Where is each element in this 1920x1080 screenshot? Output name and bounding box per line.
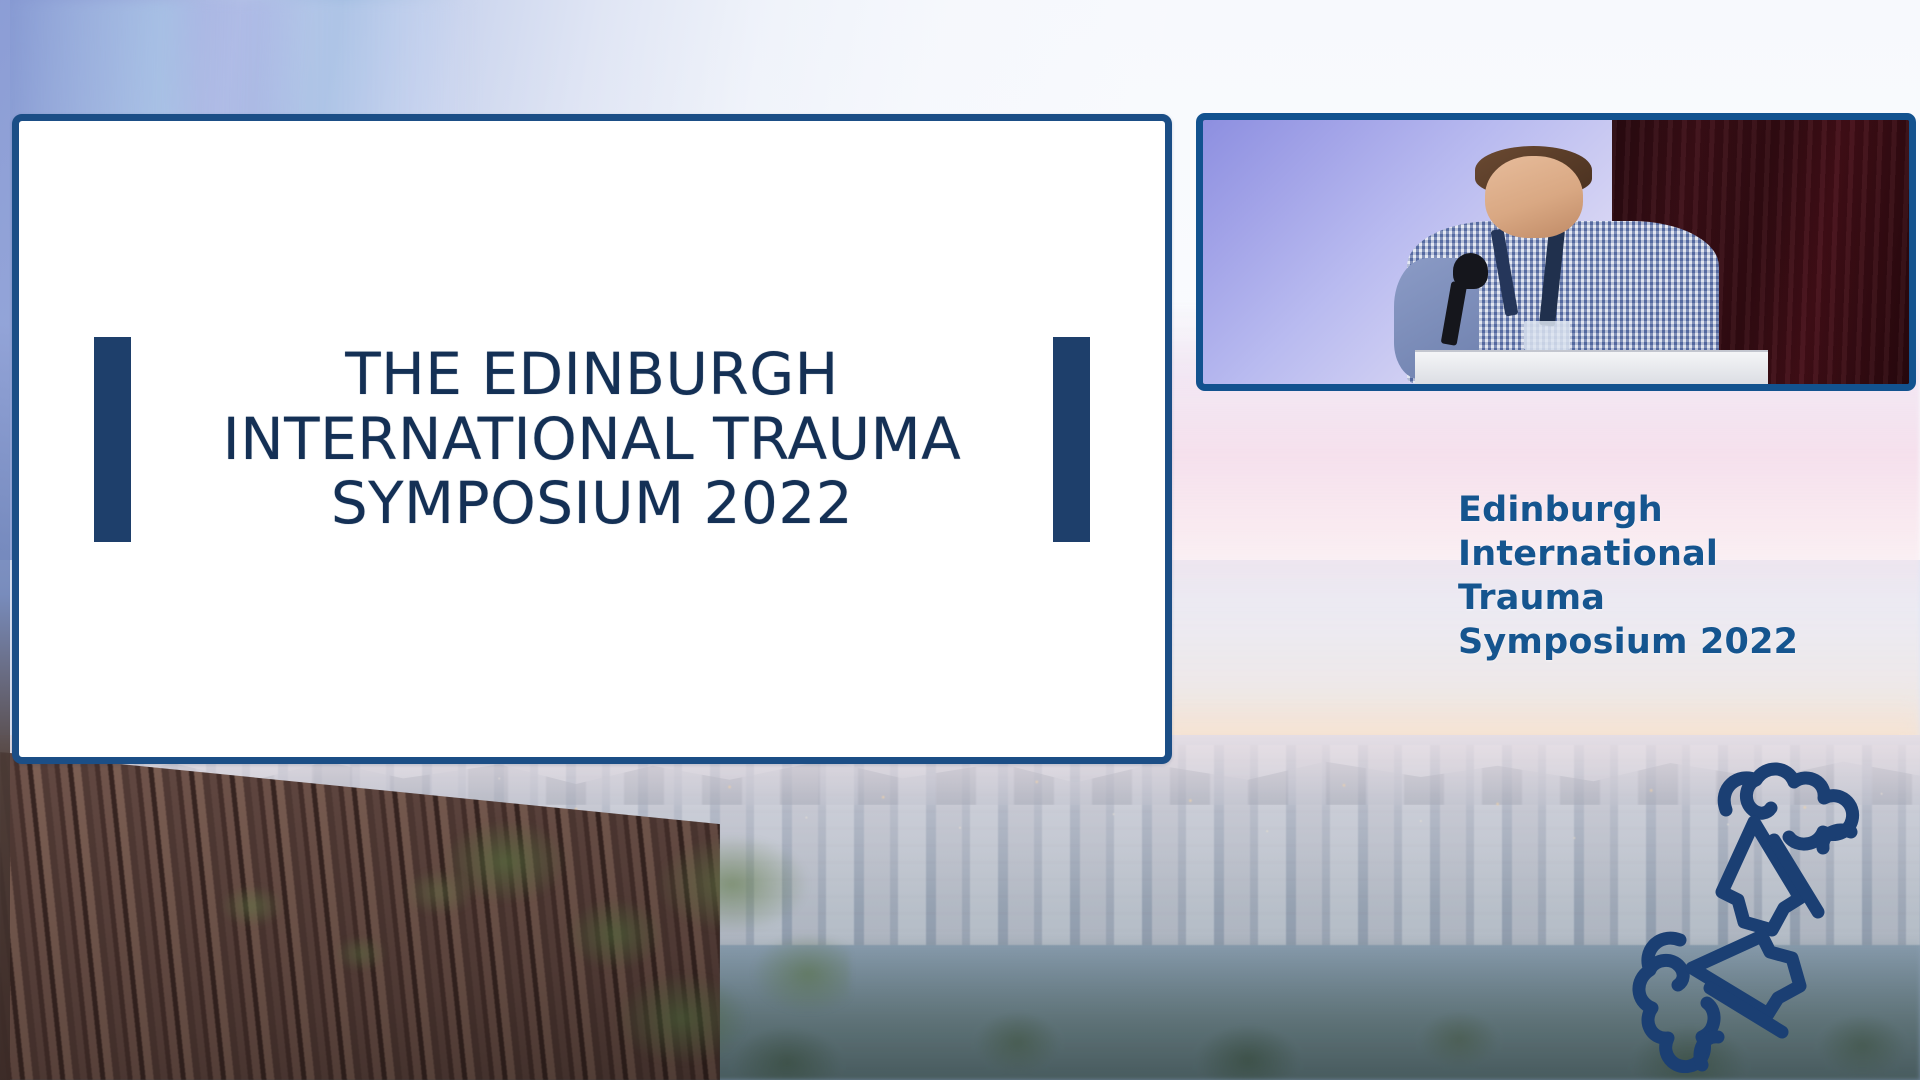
crossed-bones-logo [1588, 718, 1918, 1073]
speaker-head [1485, 156, 1582, 239]
slide-accent-bar-right [1053, 337, 1090, 542]
presentation-slide[interactable]: THE EDINBURGH INTERNATIONAL TRAUMA SYMPO… [12, 114, 1172, 764]
brand-line-4: Symposium 2022 [1458, 620, 1898, 664]
microphone-icon [1453, 253, 1489, 289]
speaker-badge [1524, 321, 1569, 350]
speaker-figure [1401, 141, 1726, 384]
slide-title-line-3: SYMPOSIUM 2022 [223, 471, 962, 536]
crag-vegetation [430, 800, 850, 1080]
podium [1415, 350, 1768, 384]
brand-line-3: Trauma [1458, 576, 1898, 620]
slide-title: THE EDINBURGH INTERNATIONAL TRAUMA SYMPO… [223, 342, 962, 537]
crossed-bones-icon [1588, 718, 1918, 1073]
slide-accent-bar-left [94, 337, 131, 542]
crag-scrub [150, 855, 490, 1025]
slide-content: THE EDINBURGH INTERNATIONAL TRAUMA SYMPO… [19, 337, 1165, 542]
brand-title: Edinburgh International Trauma Symposium… [1458, 488, 1898, 664]
slide-title-line-2: INTERNATIONAL TRAUMA [223, 407, 962, 472]
left-edge-strip [0, 0, 10, 1080]
speaker-video-thumbnail[interactable] [1196, 113, 1916, 391]
brand-line-2: International [1458, 532, 1898, 576]
brand-line-1: Edinburgh [1458, 488, 1898, 532]
slide-title-line-1: THE EDINBURGH [223, 342, 962, 407]
